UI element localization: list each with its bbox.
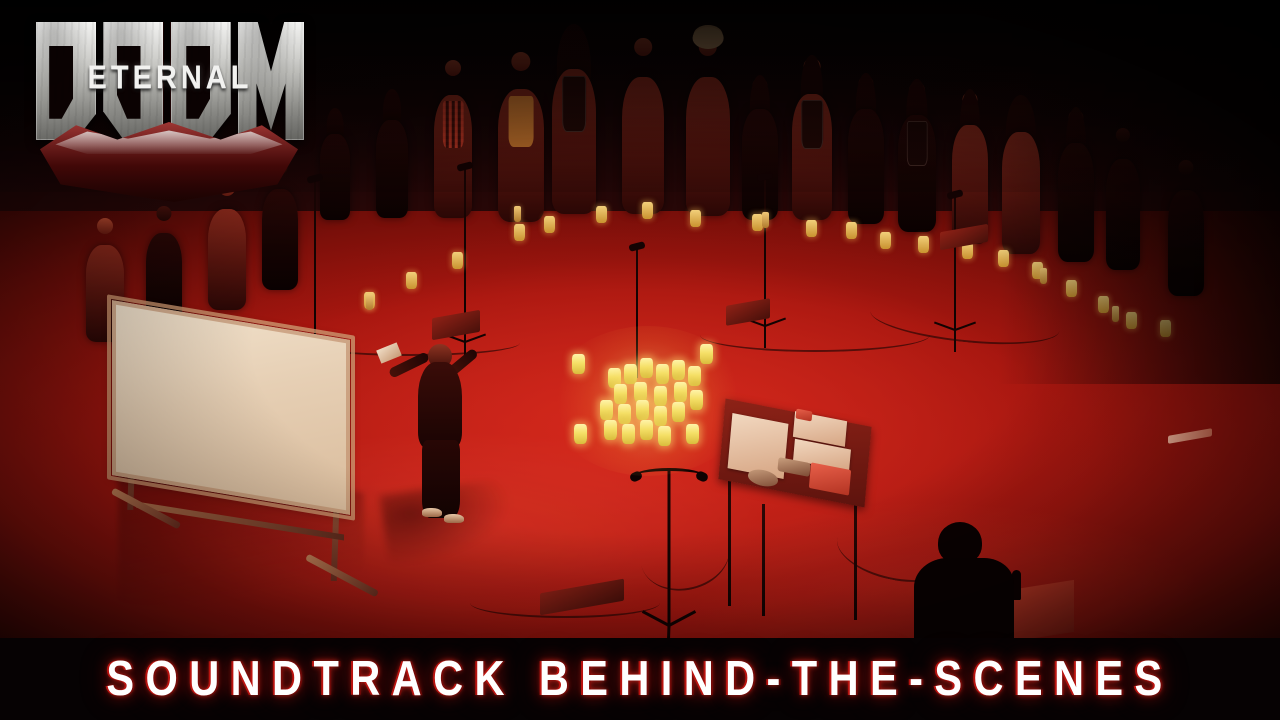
conductor-shoe-right [444,514,464,523]
candle [642,202,653,219]
body [686,77,730,216]
candle [654,386,667,406]
candle [672,402,685,422]
water-bottle-3 [762,212,769,228]
candle [596,206,607,223]
head [1178,160,1193,175]
conductor-shoe-left [422,508,442,517]
candle [600,400,613,420]
plaid-shirt [443,101,464,148]
candle [846,222,857,239]
candle [614,384,627,404]
candle [880,232,891,249]
candle [544,216,555,233]
candle [674,382,687,402]
title-banner: SOUNDTRACK BEHIND-THE-SCENES [0,638,1280,720]
person-singer-longhair [552,28,596,214]
banner-title-text: SOUNDTRACK BEHIND-THE-SCENES [106,651,1173,707]
water-bottle-4 [1040,268,1047,284]
body [1106,159,1140,270]
body [208,209,246,310]
band-tee [801,100,823,149]
candle [634,382,647,402]
head [511,52,530,71]
orange-shirt [509,96,534,147]
candle [700,344,713,364]
candle [658,426,671,446]
head [97,218,113,234]
eternal-banner-shape [40,122,298,202]
band-tee [562,76,586,132]
person-singer-orange [498,52,544,222]
person-singer-right-4 [898,82,936,232]
candle [690,210,701,227]
candle [806,220,817,237]
candle [656,364,669,384]
engineer-body [914,558,1014,640]
candle [572,354,585,374]
candle [604,420,617,440]
candle [618,404,631,424]
person-singer-right-8 [1106,128,1140,270]
person-singer-left-2 [376,92,408,218]
head [634,38,652,56]
table-leg-3 [762,504,765,616]
person-singer-hat [686,38,730,216]
candle [1098,296,1109,313]
body [848,109,884,224]
body [1002,132,1040,254]
table-leg-2 [854,500,857,620]
candle [452,252,463,269]
candle [636,400,649,420]
candle [686,424,699,444]
conductor [404,336,480,526]
body [376,120,408,218]
person-singer-right-2 [792,58,832,220]
logo-subtitle: ETERNAL [36,60,304,97]
person-singer-right-9 [1168,160,1204,296]
candle [998,250,1009,267]
candle [1126,312,1137,329]
candle [688,366,701,386]
candle [672,360,685,380]
candle [654,406,667,426]
candle [622,424,635,444]
mobile-whiteboard [112,320,370,615]
water-bottle-5 [1112,306,1119,322]
candle [574,424,587,444]
person-singer-right-6 [1002,98,1040,254]
candle [918,236,929,253]
water-bottle-1 [366,294,373,310]
head [445,60,461,76]
equipment-table [722,412,874,612]
cowboy-hat-icon [693,27,724,48]
water-bottle-2 [514,206,521,222]
stereo-mic-bar [634,468,704,484]
person-singer-bald [622,38,664,214]
person-singer-right-3 [848,76,884,224]
video-thumbnail: ETERNAL SOUNDTRACK BEHIND-THE-SCENES [0,0,1280,720]
stand-pole [636,248,638,378]
doom-eternal-logo: ETERNAL [36,22,304,207]
candle [406,272,417,289]
band-tee [907,121,928,166]
candle [624,364,637,384]
person-singer-right-7 [1058,110,1094,262]
candle [1160,320,1171,337]
body [1168,190,1204,296]
scene-photo: ETERNAL [0,0,1280,640]
body [1058,143,1094,262]
body [622,77,664,214]
head [1116,128,1130,142]
conductor-legs [422,440,460,518]
candle [640,358,653,378]
candle [514,224,525,241]
conductor-torso [418,362,462,448]
table-leg-1 [728,478,731,606]
candle [640,420,653,440]
seated-engineer [912,512,1052,640]
candle [690,390,703,410]
head [156,206,171,221]
microphone-stand-3 [614,248,660,378]
candle [1066,280,1077,297]
